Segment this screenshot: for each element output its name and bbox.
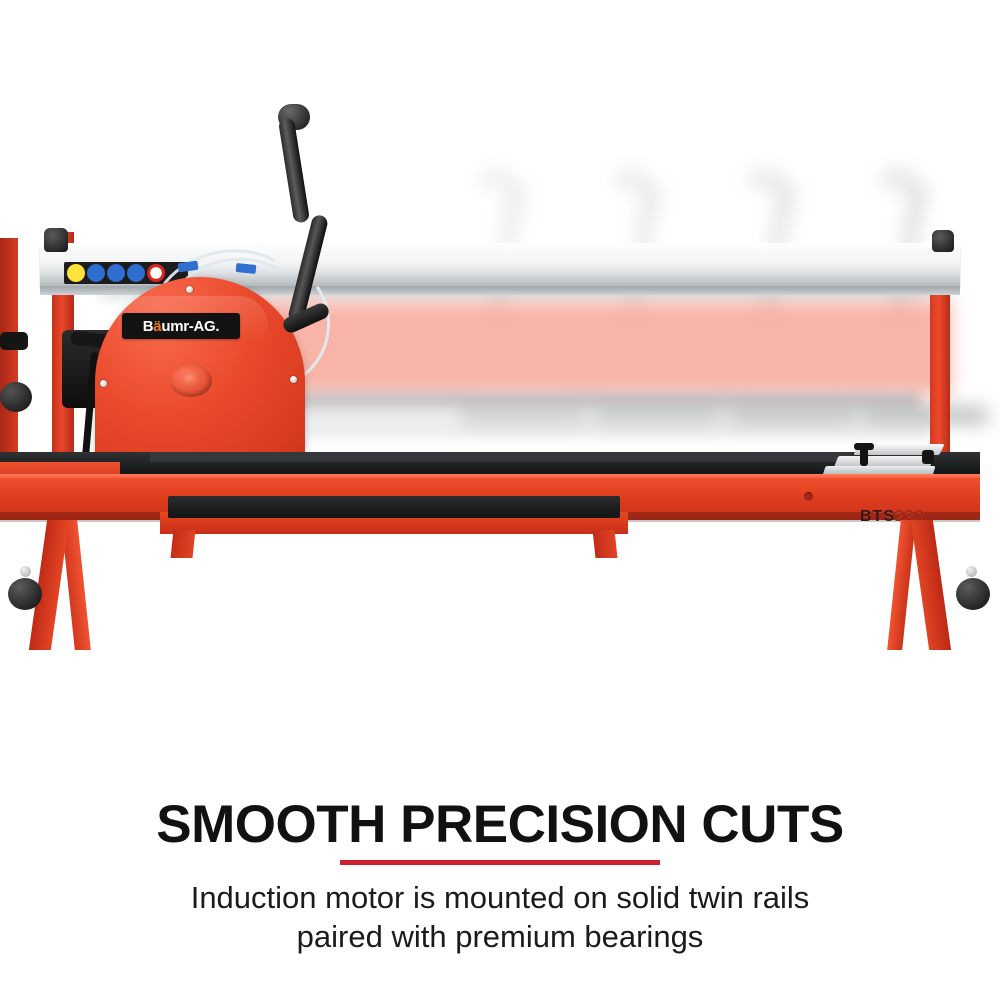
wear-goggles-icon	[127, 264, 145, 282]
mitre-guide-knob[interactable]	[922, 450, 934, 464]
wear-ear-protection-icon	[107, 264, 125, 282]
subheading: Induction motor is mounted on solid twin…	[100, 878, 900, 956]
guard-screw-right	[290, 376, 297, 383]
brand-logo-post: umr-AG.	[161, 318, 219, 335]
brand-logo-text: Bäumr-AG.	[143, 319, 220, 334]
brand-logo-pre: B	[143, 318, 154, 335]
cutting-table-highlight	[150, 452, 850, 462]
leg-lock-knob-left[interactable]	[8, 578, 42, 610]
chassis-drain-hole	[804, 492, 813, 501]
product-photo: Bäumr-AG. BTS230	[0, 0, 1000, 700]
leg-bolt-left	[20, 566, 31, 577]
caption-block: SMOOTH PRECISION CUTS Induction motor is…	[0, 700, 1000, 1000]
guard-screw-left	[100, 380, 107, 387]
leg-lock-knob-right[interactable]	[956, 578, 990, 610]
leg-right-inner	[887, 520, 916, 650]
left-clamp-block[interactable]	[0, 332, 28, 350]
leg-right-outer	[911, 520, 951, 650]
guard-screw-top	[186, 286, 193, 293]
side-extension-shelf-pad	[168, 496, 620, 518]
headline: SMOOTH PRECISION CUTS	[0, 798, 1000, 851]
subheading-line-1: Induction motor is mounted on solid twin…	[100, 878, 900, 917]
no-entry-icon	[147, 264, 165, 282]
subheading-line-2: paired with premium bearings	[100, 917, 900, 956]
frame-post-outer-left	[0, 238, 18, 478]
left-adjust-knob[interactable]	[0, 382, 32, 412]
accent-divider	[340, 860, 660, 865]
mitre-guide-pin-head[interactable]	[854, 443, 874, 450]
rail-knob-left[interactable]	[44, 228, 68, 252]
warning-triangle-icon	[67, 264, 85, 282]
blade-arbor-boss-inner	[180, 372, 202, 388]
leg-bolt-right	[966, 566, 977, 577]
wear-gloves-icon	[87, 264, 105, 282]
brand-logo-plate: Bäumr-AG.	[122, 313, 240, 339]
rail-knob-right[interactable]	[932, 230, 954, 252]
model-prefix: BTS	[860, 508, 895, 525]
hose-fitting-right	[236, 263, 257, 274]
shelf-leg-right	[593, 530, 618, 558]
shelf-leg-left	[171, 530, 196, 558]
product-feature-image: Bäumr-AG. BTS230	[0, 0, 1000, 1000]
